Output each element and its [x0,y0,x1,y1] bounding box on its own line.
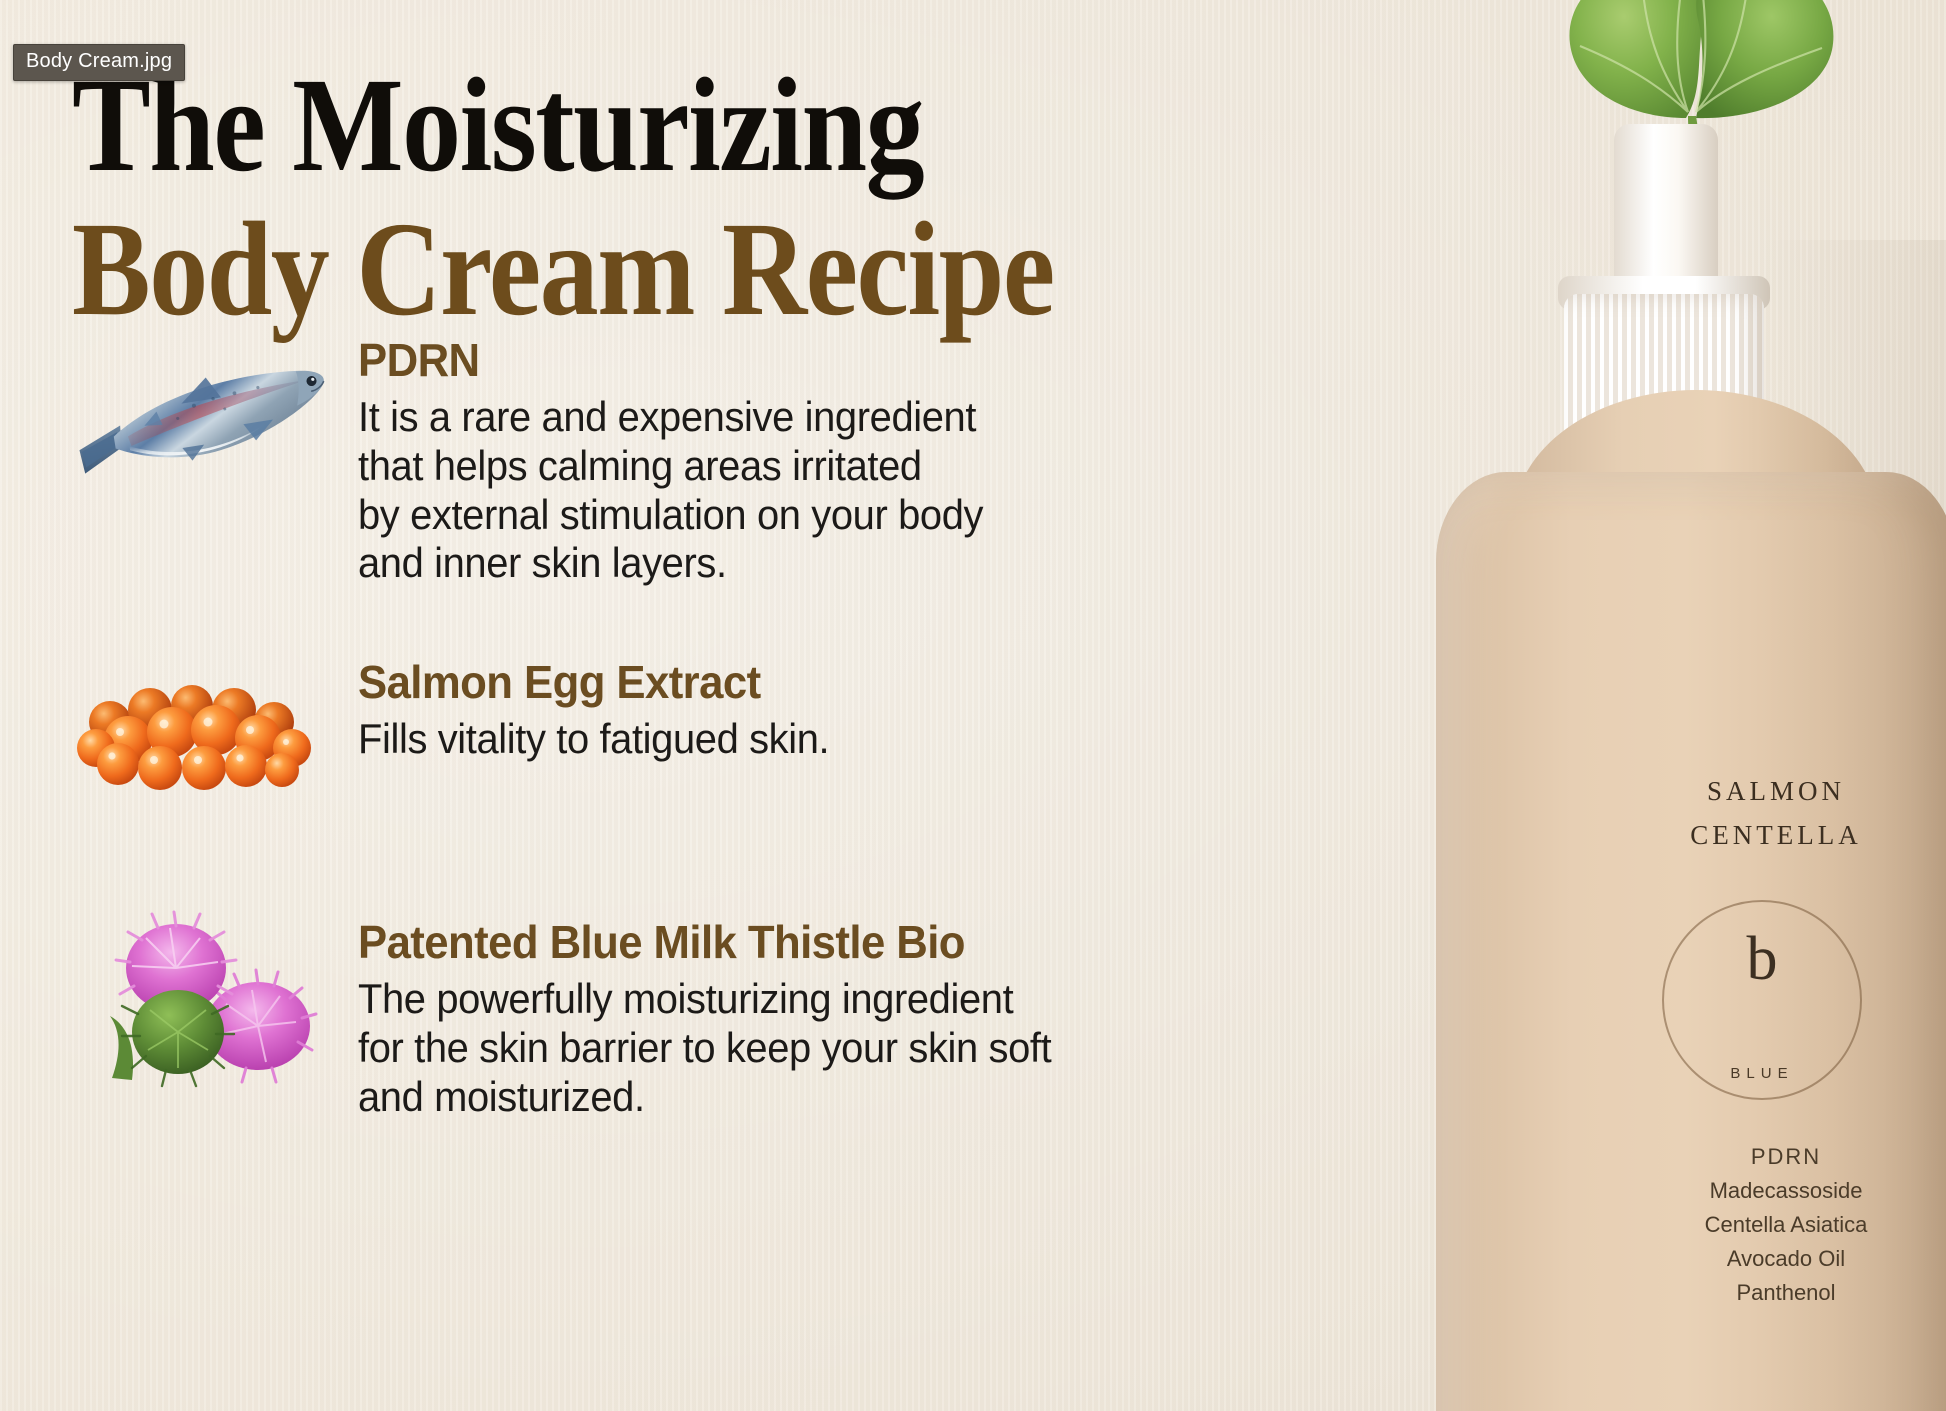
page-title: The Moisturizing Body Cream Recipe [72,56,1054,321]
fineprint-line: PDRN [1566,1140,1946,1174]
list-item: PDRN It is a rare and expensive ingredie… [58,316,1088,588]
description-line: that helps calming areas irritated [358,442,983,491]
salmon-fish-icon [55,317,357,519]
fineprint-line: Avocado Oil [1566,1242,1946,1276]
ingredient-title: Salmon Egg Extract [358,658,829,706]
ingredient-list: PDRN It is a rare and expensive ingredie… [58,316,1088,1146]
bottle-label-line-2: CENTELLA [1546,820,1946,851]
seal-monogram: b [1747,928,1778,990]
bottle-label: SALMON CENTELLA [1546,776,1946,851]
bottle-label-line-1: SALMON [1546,776,1946,807]
filename-badge: Body Cream.jpg [13,44,185,81]
product-photo-canvas: The Moisturizing Body Cream Recipe [0,0,1946,1411]
description-line: for the skin barrier to keep your skin s… [358,1024,1051,1073]
bottle-seal-logo: b BLUE [1662,900,1862,1100]
fineprint-line: Madecassoside [1566,1174,1946,1208]
description-line: by external stimulation on your body [358,491,983,540]
description-line: The powerfully moisturizing ingredient [358,975,1051,1024]
headline-line-1: The Moisturizing [72,56,1054,195]
description-line: It is a rare and expensive ingredient [358,393,983,442]
ingredient-illustration [58,904,358,1104]
product-bottle: SALMON CENTELLA b BLUE PDRN Madecassosid… [1386,240,1946,1411]
ingredient-description: Fills vitality to fatigued skin. [358,715,829,764]
list-item: Salmon Egg Extract Fills vitality to fat… [58,642,1088,842]
bottle-fineprint: PDRN Madecassoside Centella Asiatica Avo… [1566,1140,1946,1310]
description-line: and moisturized. [358,1073,1051,1122]
description-line: Fills vitality to fatigued skin. [358,715,829,764]
ingredient-text: Salmon Egg Extract Fills vitality to fat… [358,642,854,764]
fineprint-line: Panthenol [1566,1276,1946,1310]
fineprint-line: Centella Asiatica [1566,1208,1946,1242]
ingredient-illustration [58,316,358,526]
salmon-roe-icon [68,652,328,792]
ingredient-text: PDRN It is a rare and expensive ingredie… [358,316,1016,588]
seal-subtext: BLUE [1730,1065,1793,1082]
ingredient-description: The powerfully moisturizing ingredient f… [358,975,1051,1121]
description-line: and inner skin layers. [358,539,983,588]
ingredient-title: Patented Blue Milk Thistle Bio [358,918,1051,966]
ingredient-title: PDRN [358,336,983,384]
pump-nozzle [1614,124,1718,300]
ingredient-illustration [58,642,358,842]
list-item: Patented Blue Milk Thistle Bio The power… [58,904,1088,1121]
ingredient-text: Patented Blue Milk Thistle Bio The power… [358,904,1088,1121]
ingredient-description: It is a rare and expensive ingredient th… [358,393,983,588]
milk-thistle-icon [76,910,336,1100]
